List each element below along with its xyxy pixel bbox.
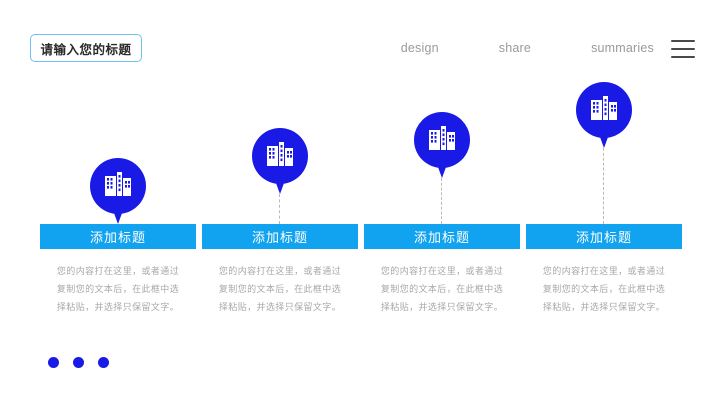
section-title-bar-4[interactable]: 添加标题 — [526, 224, 682, 249]
timeline-column-1: 添加标题 您的内容打在这里，或者通过复制您的文本后，在此框中选择粘贴，并选择只保… — [40, 0, 196, 405]
timeline-column-3: 添加标题 您的内容打在这里，或者通过复制您的文本后，在此框中选择粘贴，并选择只保… — [364, 0, 520, 405]
connector-line-3 — [441, 178, 442, 224]
map-pin-1[interactable] — [90, 158, 146, 230]
section-title-bar-3[interactable]: 添加标题 — [364, 224, 520, 249]
building-icon-3 — [428, 126, 456, 152]
building-icon-1 — [104, 172, 132, 198]
timeline-column-2: 添加标题 您的内容打在这里，或者通过复制您的文本后，在此框中选择粘贴，并选择只保… — [202, 0, 358, 405]
connector-line-2 — [279, 194, 280, 224]
timeline-stage: 添加标题 您的内容打在这里，或者通过复制您的文本后，在此框中选择粘贴，并选择只保… — [0, 0, 720, 405]
map-pin-2[interactable] — [252, 128, 308, 200]
section-body-3: 您的内容打在这里，或者通过复制您的文本后，在此框中选择粘贴，并选择只保留文字。 — [378, 262, 506, 316]
pagination-dots — [48, 357, 109, 368]
pagination-dot-3[interactable] — [98, 357, 109, 368]
building-icon-4 — [590, 96, 618, 122]
section-title-bar-2[interactable]: 添加标题 — [202, 224, 358, 249]
connector-line-4 — [603, 148, 604, 224]
section-title-2: 添加标题 — [252, 227, 308, 246]
section-body-2: 您的内容打在这里，或者通过复制您的文本后，在此框中选择粘贴，并选择只保留文字。 — [216, 262, 344, 316]
section-title-bar-1[interactable]: 添加标题 — [40, 224, 196, 249]
map-pin-4[interactable] — [576, 82, 632, 154]
section-title-3: 添加标题 — [414, 227, 470, 246]
timeline-column-4: 添加标题 您的内容打在这里，或者通过复制您的文本后，在此框中选择粘贴，并选择只保… — [526, 0, 682, 405]
section-body-4: 您的内容打在这里，或者通过复制您的文本后，在此框中选择粘贴，并选择只保留文字。 — [540, 262, 668, 316]
section-body-1: 您的内容打在这里，或者通过复制您的文本后，在此框中选择粘贴，并选择只保留文字。 — [54, 262, 182, 316]
section-title-1: 添加标题 — [90, 227, 146, 246]
pagination-dot-1[interactable] — [48, 357, 59, 368]
building-icon-2 — [266, 142, 294, 168]
pagination-dot-2[interactable] — [73, 357, 84, 368]
map-pin-3[interactable] — [414, 112, 470, 184]
section-title-4: 添加标题 — [576, 227, 632, 246]
